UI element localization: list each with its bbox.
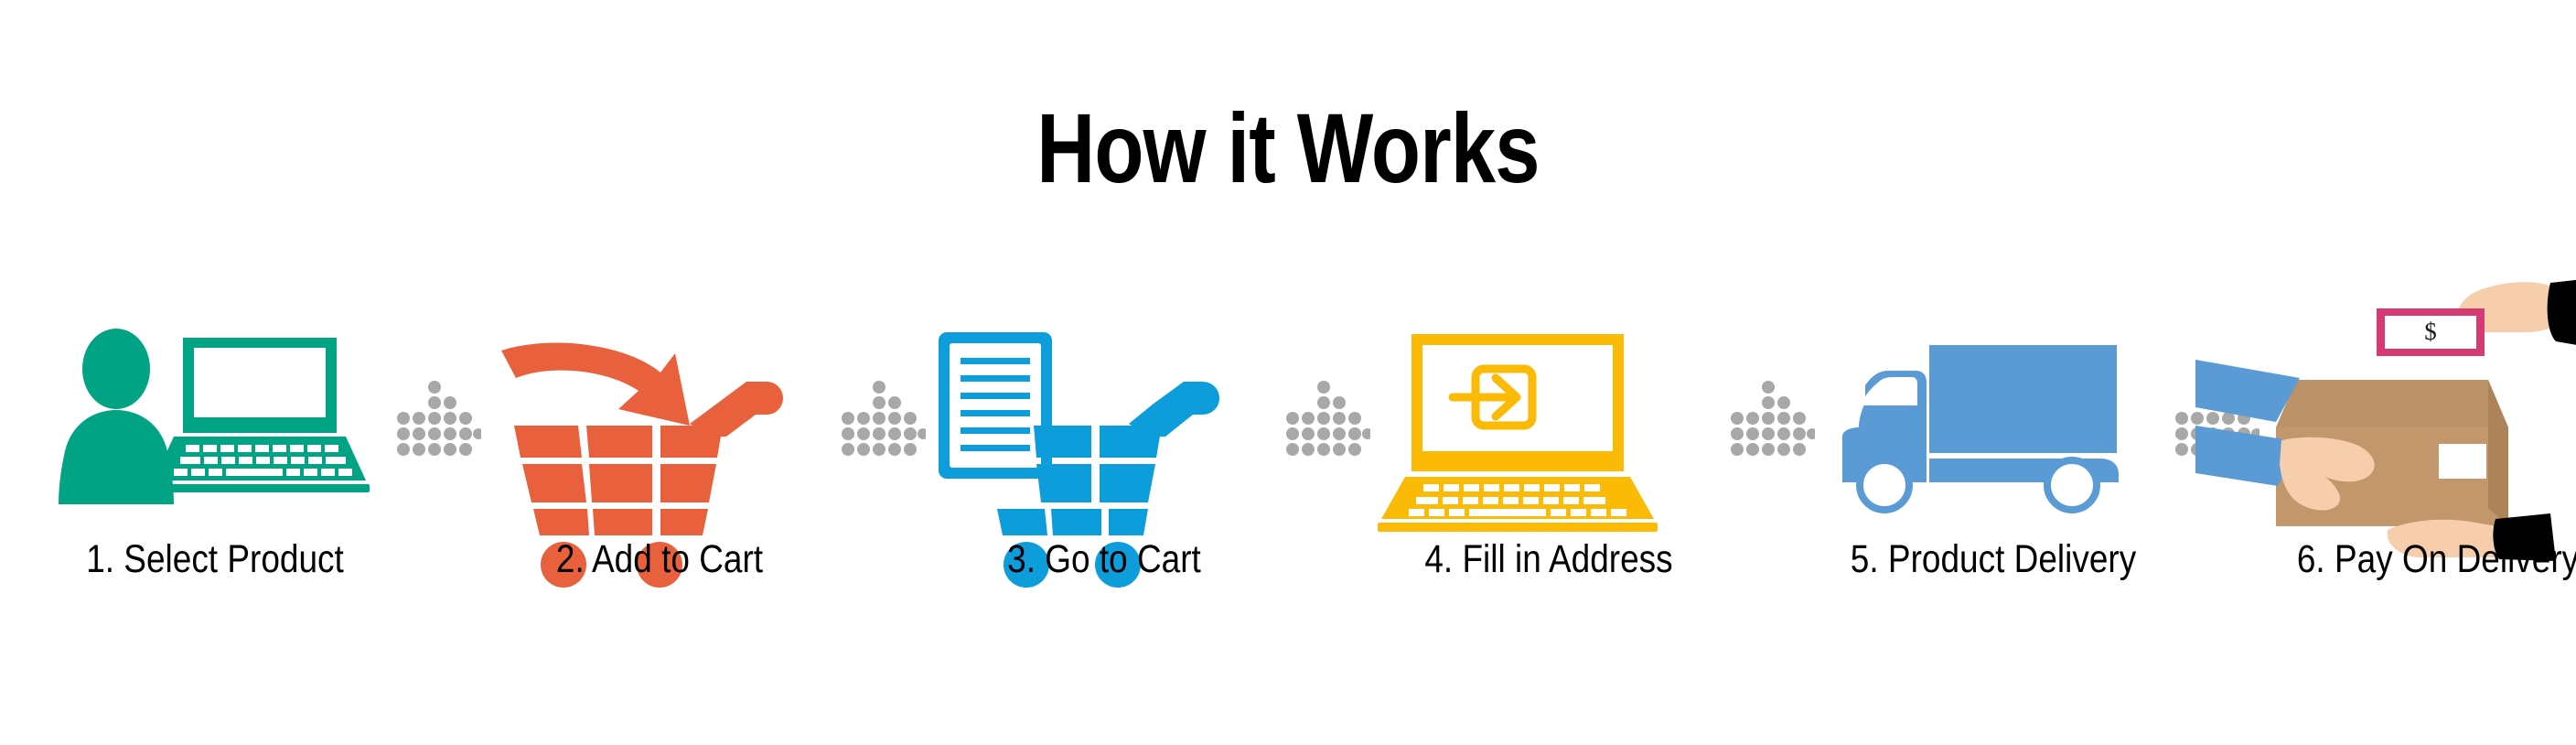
- document-cart-icon-area: [926, 325, 1283, 531]
- hands-box-money-icon: $: [2259, 325, 2576, 531]
- delivery-truck-icon: [1815, 325, 2172, 531]
- separator-2: [838, 325, 926, 627]
- steps-row: 1. Select Product: [37, 325, 2543, 627]
- box-lid: [2276, 380, 2508, 427]
- delivery-truck-icon-area: [1815, 325, 2172, 531]
- step-6-label: 6. Pay On Delivery: [2284, 537, 2576, 582]
- step-1-select-product[interactable]: 1. Select Product: [37, 325, 393, 627]
- step-4-fill-in-address[interactable]: 4. Fill in Address: [1370, 325, 1727, 627]
- person-laptop-icon: [37, 325, 393, 531]
- laptop-login-icon-area: [1370, 325, 1727, 531]
- step-3-label: 3. Go to Cart: [950, 537, 1257, 582]
- separator-3: [1283, 325, 1370, 627]
- box-side: [2488, 380, 2508, 526]
- step-4-label: 4. Fill in Address: [1395, 537, 1701, 582]
- cart-arrow-down-icon-area: [481, 325, 838, 531]
- document-cart-icon: [926, 325, 1283, 531]
- step-3-go-to-cart[interactable]: 3. Go to Cart: [926, 325, 1283, 627]
- step-5-label: 5. Product Delivery: [1840, 537, 2146, 582]
- person-laptop-icon-area: [37, 325, 393, 531]
- money-dollar-symbol: $: [2424, 318, 2437, 345]
- step-2-label: 2. Add to Cart: [506, 537, 812, 582]
- laptop-login-icon: [1370, 325, 1727, 531]
- separator-4: [1727, 325, 1815, 627]
- box-label: [2439, 444, 2486, 479]
- step-6-pay-on-delivery[interactable]: $ 6. Pay On Delive: [2259, 325, 2576, 627]
- cart-arrow-down-icon: [481, 325, 838, 531]
- step-5-product-delivery[interactable]: 5. Product Delivery: [1815, 325, 2172, 627]
- page-title: How it Works: [231, 99, 2344, 198]
- dotted-arrow-right-icon: [838, 378, 926, 460]
- separator-1: [393, 325, 481, 627]
- dotted-arrow-right-icon: [1283, 378, 1370, 460]
- hands-box-money-icon-area: $: [2259, 325, 2576, 531]
- step-2-add-to-cart[interactable]: 2. Add to Cart: [481, 325, 838, 627]
- sleeve-upper-right: [2548, 277, 2576, 351]
- dotted-arrow-right-icon: [393, 378, 481, 460]
- step-1-label: 1. Select Product: [61, 537, 368, 582]
- dotted-arrow-right-icon: [1727, 378, 1815, 460]
